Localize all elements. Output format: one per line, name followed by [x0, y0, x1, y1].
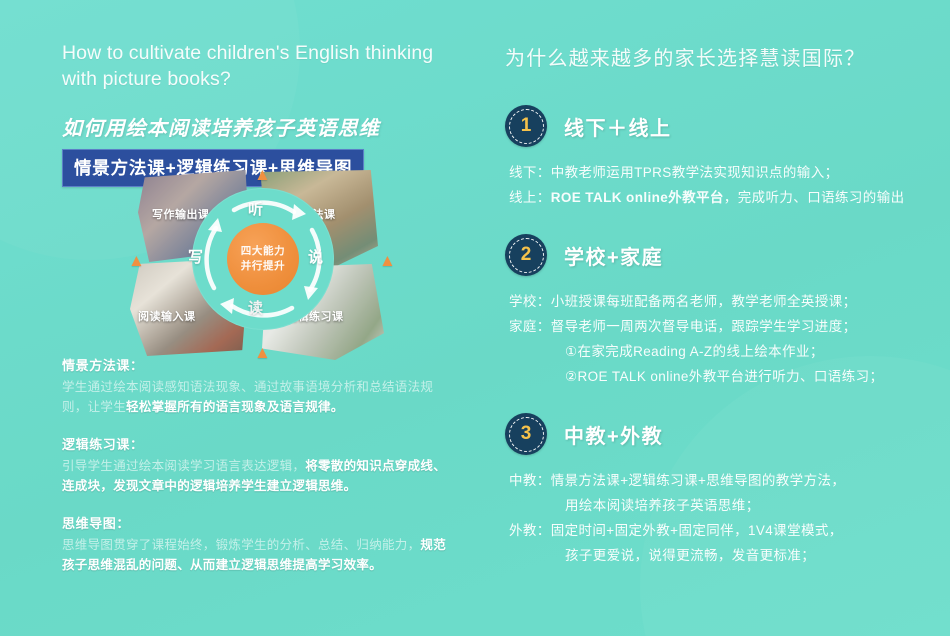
benefit-line: 家庭：督导老师一周两次督导电话，跟踪学生学习进度；: [509, 314, 925, 339]
skill-label-write: 写: [188, 246, 204, 267]
orange-arrow-top-icon: ▲: [254, 166, 271, 183]
description-body: 学生通过绘本阅读感知语法现象、通过故事语境分析和总结语法规则，让学生轻松掌握所有…: [62, 377, 447, 417]
benefit-section: 1 线下＋线上 线下：中教老师运用TPRS教学法实现知识点的输入； 线上：ROE…: [505, 105, 925, 210]
number-badge: 1: [505, 105, 547, 147]
badge-number: 3: [521, 424, 532, 443]
description-block: 情景方法课： 学生通过绘本阅读感知语法现象、通过故事语境分析和总结语法规则，让学…: [62, 355, 447, 417]
benefit-section: 2 学校+家庭 学校：小班授课每班配备两名老师，教学老师全英授课； 家庭：督导老…: [505, 234, 925, 389]
description-heading: 思维导图：: [62, 513, 447, 532]
number-badge: 3: [505, 413, 547, 455]
benefit-line: 用绘本阅读培养孩子英语思维；: [509, 493, 925, 518]
benefit-line: 学校：小班授课每班配备两名老师，教学老师全英授课；: [509, 289, 925, 314]
poster-root: How to cultivate children's English thin…: [0, 0, 950, 636]
description-normal-text: 思维导图贯穿了课程始终，锻炼学生的分析、总结、归纳能力，: [62, 538, 420, 552]
badge-number: 2: [521, 245, 532, 264]
benefit-line: 线上：ROE TALK online外教平台，完成听力、口语练习的输出: [509, 185, 925, 210]
benefit-line: ②ROE TALK online外教平台进行听力、口语练习；: [509, 364, 925, 389]
benefit-section-header: 1 线下＋线上: [505, 105, 925, 147]
number-badge: 2: [505, 234, 547, 276]
benefit-section-title: 学校+家庭: [564, 241, 663, 270]
benefit-section-header: 3 中教+外教: [505, 413, 925, 455]
center-text-line2: 并行提升: [241, 260, 285, 273]
english-headline: How to cultivate children's English thin…: [62, 40, 462, 92]
description-bold-text: 轻松掌握所有的语言现象及语言规律。: [126, 400, 344, 414]
benefit-line: ①在家完成Reading A-Z的线上绘本作业；: [509, 339, 925, 364]
benefit-line: 孩子更爱说，说得更流畅，发音更标准；: [509, 543, 925, 568]
chinese-headline: 如何用绘本阅读培养孩子英语思维: [62, 112, 462, 141]
description-body: 思维导图贯穿了课程始终，锻炼学生的分析、总结、归纳能力，规范孩子思维混乱的问题、…: [62, 535, 447, 575]
badge-number: 1: [521, 116, 532, 135]
description-normal-text: 引导学生通过绘本阅读学习语言表达逻辑，: [62, 459, 305, 473]
benefit-section-lines: 学校：小班授课每班配备两名老师，教学老师全英授课； 家庭：督导老师一周两次督导电…: [505, 289, 925, 389]
benefit-line: 线下：中教老师运用TPRS教学法实现知识点的输入；: [509, 160, 925, 185]
english-headline-line2: with picture books?: [62, 66, 462, 92]
benefit-section-header: 2 学校+家庭: [505, 234, 925, 276]
benefit-section: 3 中教+外教 中教：情景方法课+逻辑练习课+思维导图的教学方法， 用绘本阅读培…: [505, 413, 925, 568]
center-text-line1: 四大能力: [241, 245, 285, 258]
course-descriptions: 情景方法课： 学生通过绘本阅读感知语法现象、通过故事语境分析和总结语法规则，让学…: [62, 355, 447, 592]
four-skills-diagram: 写作输出课 情景方法课 阅读输入课 逻辑练习课 四大能力 并行提升 听 说: [130, 168, 390, 358]
orange-arrow-right-icon: ▲: [379, 252, 396, 269]
benefit-line-emphasis: ROE TALK online外教平台: [551, 190, 724, 205]
skill-label-listen: 听: [248, 198, 264, 219]
center-core-circle: 四大能力 并行提升: [227, 223, 299, 295]
english-headline-line1: How to cultivate children's English thin…: [62, 40, 462, 66]
right-column-title: 为什么越来越多的家长选择慧读国际？: [505, 42, 925, 71]
benefit-line: 中教：情景方法课+逻辑练习课+思维导图的教学方法，: [509, 468, 925, 493]
skill-label-read: 读: [248, 297, 264, 318]
description-block: 思维导图： 思维导图贯穿了课程始终，锻炼学生的分析、总结、归纳能力，规范孩子思维…: [62, 513, 447, 575]
benefit-line: 外教：固定时间+固定外教+固定同伴，1V4课堂模式，: [509, 518, 925, 543]
description-heading: 情景方法课：: [62, 355, 447, 374]
description-heading: 逻辑练习课：: [62, 434, 447, 453]
benefit-section-title: 线下＋线上: [564, 112, 672, 141]
description-body: 引导学生通过绘本阅读学习语言表达逻辑，将零散的知识点穿成线、连成块，发现文章中的…: [62, 456, 447, 496]
description-block: 逻辑练习课： 引导学生通过绘本阅读学习语言表达逻辑，将零散的知识点穿成线、连成块…: [62, 434, 447, 496]
benefit-section-title: 中教+外教: [564, 420, 663, 449]
benefit-line-suffix: ，完成听力、口语练习的输出: [724, 190, 905, 205]
benefit-line-prefix: 线上：: [509, 190, 551, 205]
right-column: 为什么越来越多的家长选择慧读国际？ 1 线下＋线上 线下：中教老师运用TPRS教…: [505, 42, 925, 592]
photo-label-reading-input: 阅读输入课: [138, 308, 196, 324]
orange-arrow-left-icon: ▲: [128, 252, 145, 269]
skill-label-speak: 说: [308, 246, 324, 267]
benefit-section-lines: 中教：情景方法课+逻辑练习课+思维导图的教学方法， 用绘本阅读培养孩子英语思维；…: [505, 468, 925, 568]
benefit-section-lines: 线下：中教老师运用TPRS教学法实现知识点的输入； 线上：ROE TALK on…: [505, 160, 925, 210]
